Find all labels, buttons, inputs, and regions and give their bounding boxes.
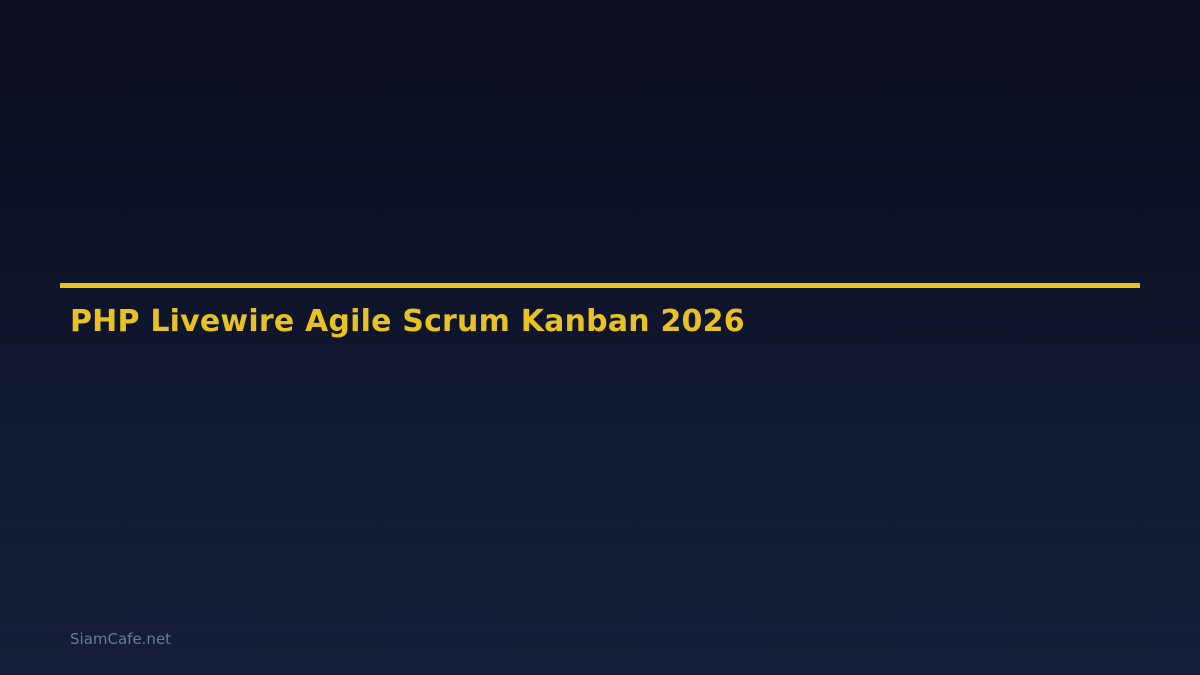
- accent-rule-divider: [60, 283, 1140, 288]
- title-slide: PHP Livewire Agile Scrum Kanban 2026 Sia…: [0, 0, 1200, 675]
- watermark-label: SiamCafe.net: [70, 630, 171, 649]
- page-title: PHP Livewire Agile Scrum Kanban 2026: [70, 305, 745, 339]
- title-block: PHP Livewire Agile Scrum Kanban 2026: [60, 283, 1140, 288]
